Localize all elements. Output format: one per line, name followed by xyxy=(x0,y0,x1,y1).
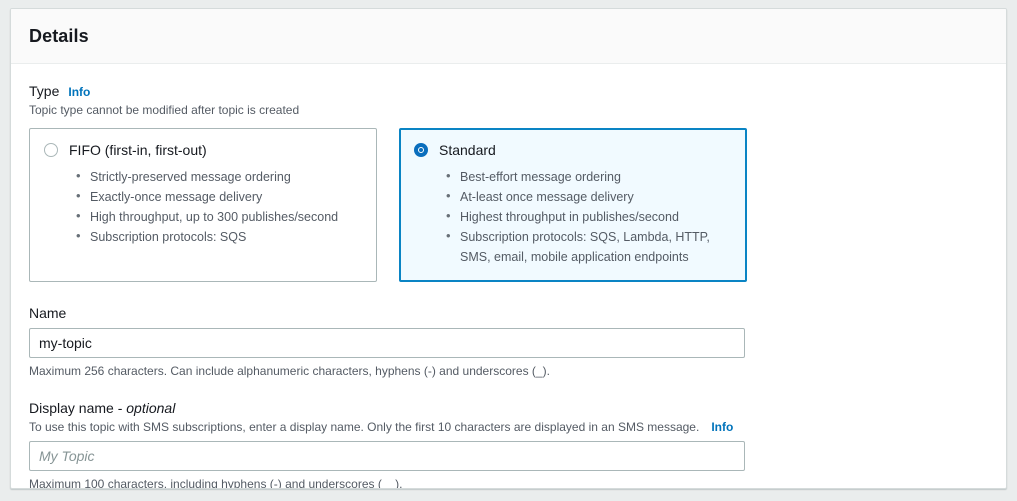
display-name-info-link[interactable]: Info xyxy=(711,419,733,435)
type-label: Type xyxy=(29,82,59,100)
type-info-link[interactable]: Info xyxy=(68,84,90,100)
list-item: Exactly-once message delivery xyxy=(76,187,362,207)
display-name-constraint-text: Maximum 100 characters, including hyphen… xyxy=(29,476,988,489)
name-label: Name xyxy=(29,304,66,322)
display-name-label-row: Display name - optional xyxy=(29,399,988,417)
list-item: Subscription protocols: SQS, Lambda, HTT… xyxy=(446,227,732,267)
display-name-input[interactable] xyxy=(29,441,745,471)
type-tile-fifo-title: FIFO (first-in, first-out) xyxy=(69,141,207,159)
radio-icon-standard[interactable] xyxy=(414,143,428,157)
display-name-field-group: Display name - optional To use this topi… xyxy=(29,399,988,489)
type-label-row: Type Info xyxy=(29,82,988,100)
type-tile-fifo-bullets: Strictly-preserved message ordering Exac… xyxy=(44,167,362,247)
panel-header: Details xyxy=(11,9,1006,64)
list-item: Strictly-preserved message ordering xyxy=(76,167,362,187)
type-field-group: Type Info Topic type cannot be modified … xyxy=(29,82,988,282)
radio-icon-fifo[interactable] xyxy=(44,143,58,157)
page-title: Details xyxy=(29,26,89,47)
display-name-optional-text: optional xyxy=(126,400,175,416)
list-item: High throughput, up to 300 publishes/sec… xyxy=(76,207,362,227)
type-tile-fifo-head: FIFO (first-in, first-out) xyxy=(44,141,362,159)
display-name-label: Display name - optional xyxy=(29,399,175,417)
type-tile-standard-bullets: Best-effort message ordering At-least on… xyxy=(414,167,732,267)
type-tile-standard-head: Standard xyxy=(414,141,732,159)
name-input[interactable] xyxy=(29,328,745,358)
name-label-row: Name xyxy=(29,304,988,322)
name-constraint-text: Maximum 256 characters. Can include alph… xyxy=(29,363,988,379)
list-item: Subscription protocols: SQS xyxy=(76,227,362,247)
type-tile-group: FIFO (first-in, first-out) Strictly-pres… xyxy=(29,128,988,282)
type-tile-standard-title: Standard xyxy=(439,141,496,159)
list-item: Best-effort message ordering xyxy=(446,167,732,187)
name-field-group: Name Maximum 256 characters. Can include… xyxy=(29,304,988,379)
panel-body: Type Info Topic type cannot be modified … xyxy=(11,64,1006,489)
list-item: Highest throughput in publishes/second xyxy=(446,207,732,227)
display-name-label-text: Display name - xyxy=(29,400,126,416)
type-tile-fifo[interactable]: FIFO (first-in, first-out) Strictly-pres… xyxy=(29,128,377,282)
type-tile-standard[interactable]: Standard Best-effort message ordering At… xyxy=(399,128,747,282)
type-description: Topic type cannot be modified after topi… xyxy=(29,102,988,118)
display-name-description: To use this topic with SMS subscriptions… xyxy=(29,419,699,435)
details-panel: Details Type Info Topic type cannot be m… xyxy=(10,8,1007,489)
display-name-description-row: To use this topic with SMS subscriptions… xyxy=(29,419,988,435)
list-item: At-least once message delivery xyxy=(446,187,732,207)
